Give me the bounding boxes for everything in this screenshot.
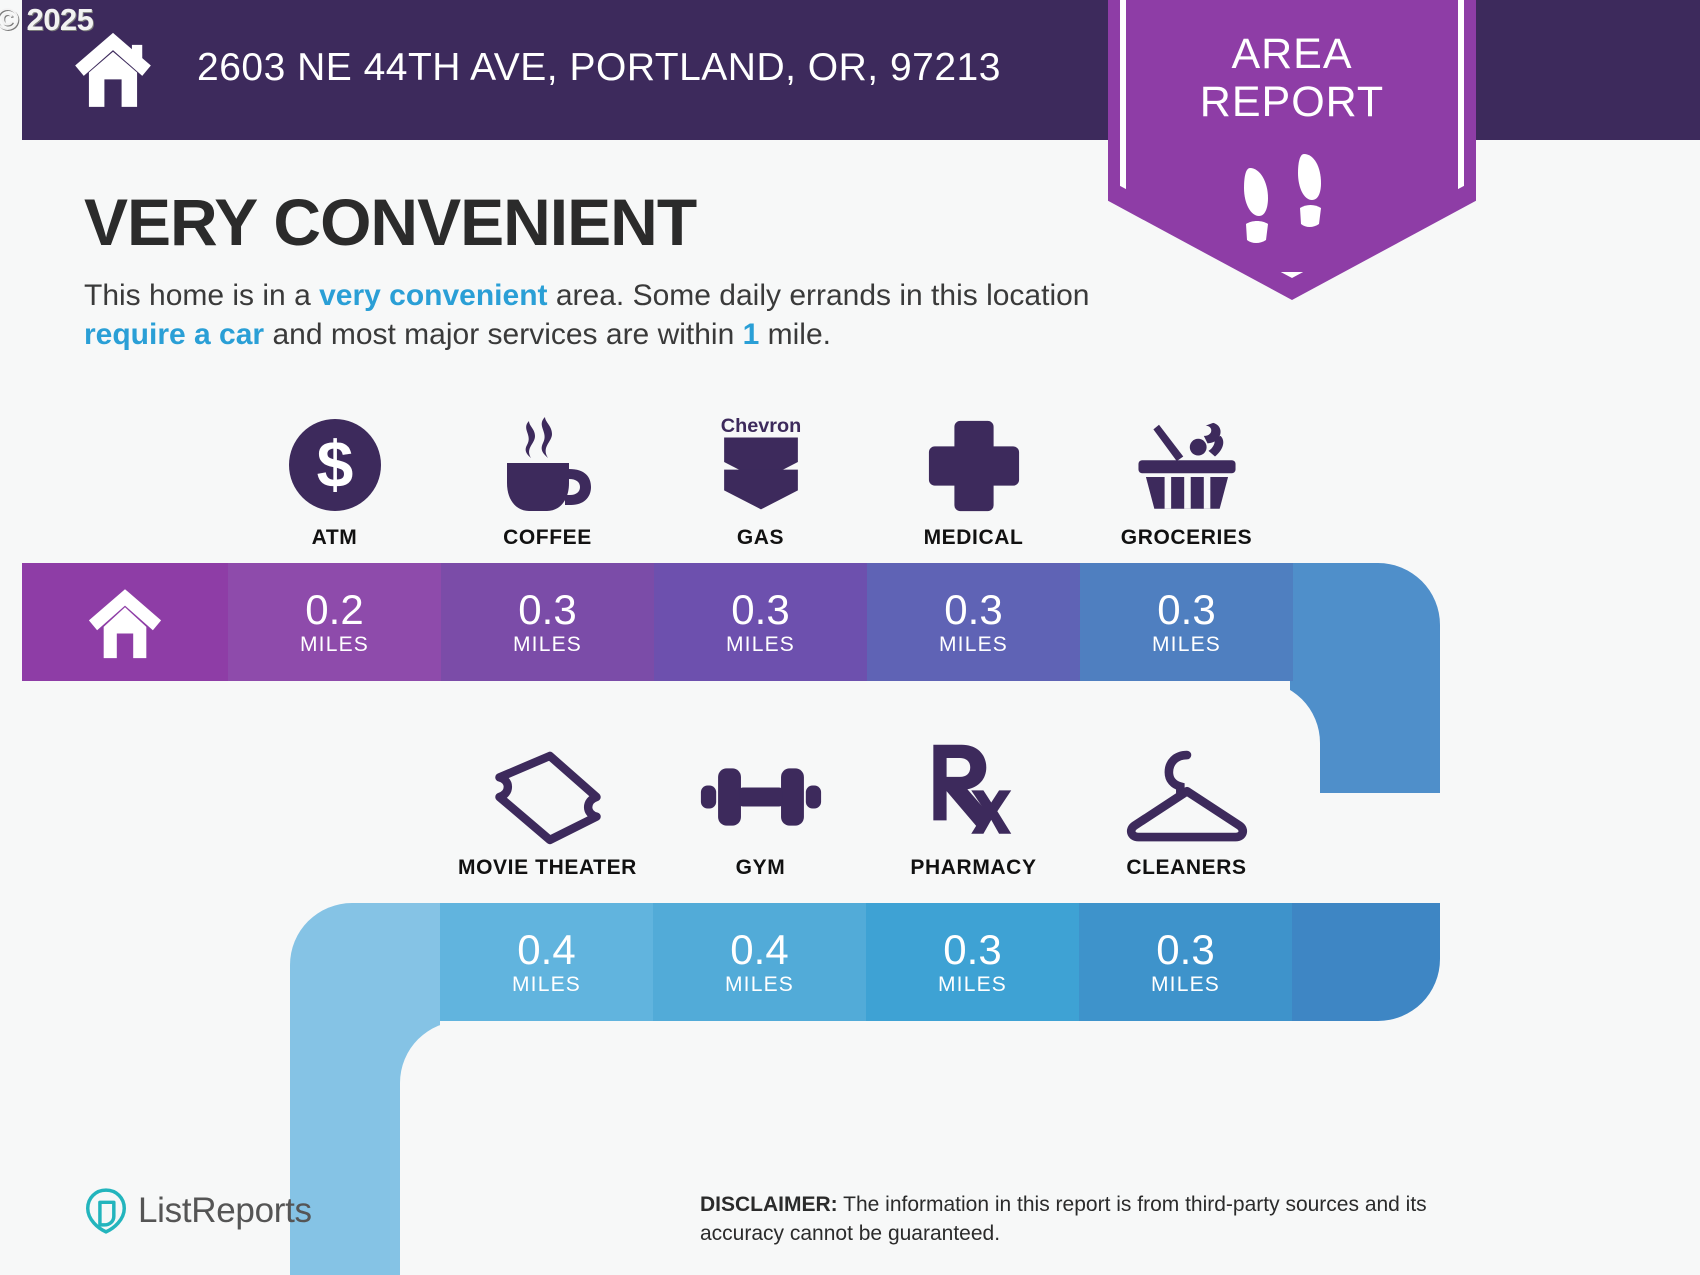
amenity-medical: MEDICAL bbox=[867, 405, 1080, 550]
svg-text:Chevron: Chevron bbox=[720, 415, 801, 437]
distance-unit: MILES bbox=[512, 973, 581, 997]
disclaimer-label: DISCLAIMER: bbox=[700, 1193, 838, 1216]
movie-ticket-icon bbox=[441, 735, 654, 845]
distance-value: 0.3 bbox=[518, 588, 576, 632]
copyright-label: © 2025 bbox=[0, 2, 93, 38]
bar2-segments: 0.4 MILES 0.4 MILES 0.3 MILES 0.3 MILES bbox=[440, 903, 1292, 1021]
amenity-pharmacy: PHARMACY bbox=[867, 735, 1080, 880]
desc-part-2: area. Some daily errands in this locatio… bbox=[548, 279, 1090, 312]
amenity-label: MEDICAL bbox=[867, 526, 1080, 550]
desc-part-1: This home is in a bbox=[84, 279, 319, 312]
distance-value: 0.4 bbox=[730, 928, 788, 972]
distance-segment-medical: 0.3 MILES bbox=[867, 563, 1080, 681]
desc-part-4: mile. bbox=[759, 318, 831, 351]
listreports-logo: ListReports bbox=[86, 1188, 312, 1234]
distance-value: 0.3 bbox=[943, 928, 1001, 972]
desc-highlight-1: very convenient bbox=[319, 279, 547, 312]
description-text: This home is in a very convenient area. … bbox=[84, 276, 1094, 354]
amenity-gym: GYM bbox=[654, 735, 867, 880]
amenity-gas: Chevron GAS bbox=[654, 405, 867, 550]
dollar-circle-icon: $ bbox=[228, 405, 441, 515]
amenity-label: MOVIE THEATER bbox=[441, 856, 654, 880]
distance-value: 0.4 bbox=[517, 928, 575, 972]
amenity-atm: $ ATM bbox=[228, 405, 441, 550]
distance-unit: MILES bbox=[1151, 973, 1220, 997]
medical-cross-icon bbox=[867, 405, 1080, 515]
distance-unit: MILES bbox=[939, 633, 1008, 657]
svg-text:$: $ bbox=[316, 427, 353, 501]
disclaimer: DISCLAIMER: The information in this repo… bbox=[700, 1190, 1500, 1248]
distance-value: 0.3 bbox=[944, 588, 1002, 632]
amenity-cleaners: CLEANERS bbox=[1080, 735, 1293, 880]
distance-unit: MILES bbox=[300, 633, 369, 657]
distance-unit: MILES bbox=[725, 973, 794, 997]
distance-unit: MILES bbox=[938, 973, 1007, 997]
distance-segment-pharmacy: 0.3 MILES bbox=[866, 903, 1079, 1021]
badge-title: AREA REPORT bbox=[1108, 30, 1476, 126]
rx-icon bbox=[867, 735, 1080, 845]
distance-value: 0.3 bbox=[1156, 928, 1214, 972]
distance-segment-movie-theater: 0.4 MILES bbox=[440, 903, 653, 1021]
chevron-gas-icon: Chevron bbox=[654, 405, 867, 515]
distance-segment-gym: 0.4 MILES bbox=[653, 903, 866, 1021]
distance-segment-atm: 0.2 MILES bbox=[228, 563, 441, 681]
bar2-rounded-end bbox=[1290, 903, 1440, 1021]
coffee-cup-icon bbox=[441, 405, 654, 515]
distance-bar-row-1: 0.2 MILES 0.3 MILES 0.3 MILES 0.3 MILES … bbox=[22, 563, 1440, 681]
home-icon bbox=[70, 26, 156, 112]
distance-segment-coffee: 0.3 MILES bbox=[441, 563, 654, 681]
amenity-label: COFFEE bbox=[441, 526, 654, 550]
desc-highlight-2: require a car bbox=[84, 318, 264, 351]
distance-unit: MILES bbox=[513, 633, 582, 657]
amenity-label: GYM bbox=[654, 856, 867, 880]
amenity-groceries: GROCERIES bbox=[1080, 405, 1293, 550]
amenity-label: ATM bbox=[228, 526, 441, 550]
amenity-label: GAS bbox=[654, 526, 867, 550]
amenity-label: PHARMACY bbox=[867, 856, 1080, 880]
dumbbell-icon bbox=[654, 735, 867, 845]
amenity-label: CLEANERS bbox=[1080, 856, 1293, 880]
distance-segment-groceries: 0.3 MILES bbox=[1080, 563, 1293, 681]
property-address: 2603 NE 44TH AVE, PORTLAND, OR, 97213 bbox=[197, 46, 1001, 90]
home-marker-segment bbox=[22, 563, 228, 681]
hanger-icon bbox=[1080, 735, 1293, 845]
desc-highlight-3: 1 bbox=[743, 318, 760, 351]
badge-line-1: AREA bbox=[1108, 30, 1476, 78]
distance-unit: MILES bbox=[726, 633, 795, 657]
area-report-page: 2603 NE 44TH AVE, PORTLAND, OR, 97213 © … bbox=[0, 0, 1700, 1275]
desc-part-3: and most major services are within bbox=[264, 318, 743, 351]
amenity-movie-theater: MOVIE THEATER bbox=[441, 735, 654, 880]
distance-segment-gas: 0.3 MILES bbox=[654, 563, 867, 681]
badge-line-2: REPORT bbox=[1108, 78, 1476, 126]
page-title: VERY CONVENIENT bbox=[84, 184, 696, 260]
listreports-logo-text: ListReports bbox=[138, 1191, 312, 1231]
distance-unit: MILES bbox=[1152, 633, 1221, 657]
distance-value: 0.3 bbox=[1157, 588, 1215, 632]
grocery-basket-icon bbox=[1080, 405, 1293, 515]
footprints-icon bbox=[1236, 150, 1346, 255]
distance-segment-cleaners: 0.3 MILES bbox=[1079, 903, 1292, 1021]
amenity-label: GROCERIES bbox=[1080, 526, 1293, 550]
distance-value: 0.3 bbox=[731, 588, 789, 632]
amenity-coffee: COFFEE bbox=[441, 405, 654, 550]
distance-value: 0.2 bbox=[305, 588, 363, 632]
area-report-badge: AREA REPORT bbox=[1108, 0, 1476, 300]
listreports-pin-icon bbox=[86, 1188, 126, 1234]
